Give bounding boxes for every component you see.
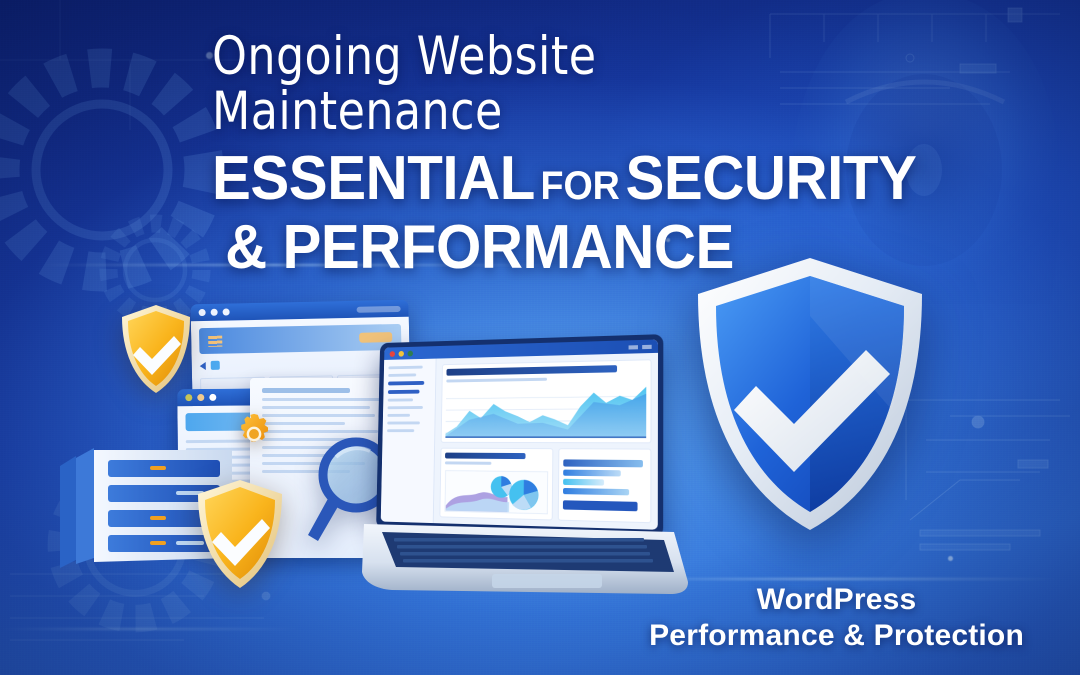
headline-line-2: ESSENTIALFORSECURITY xyxy=(212,147,870,210)
headline-line-3: & PERFORMANCE xyxy=(212,216,870,279)
hamburger-menu-icon[interactable] xyxy=(208,335,222,346)
traffic-light-3[interactable] xyxy=(223,308,230,315)
traffic-light-yellow[interactable] xyxy=(399,350,404,356)
dashboard xyxy=(381,339,658,529)
headline-essential: ESSENTIAL xyxy=(212,144,535,213)
area-chart-card xyxy=(441,359,652,443)
tagline-line-1: WordPress xyxy=(649,583,1024,617)
area-chart xyxy=(445,384,646,438)
traffic-light-3[interactable] xyxy=(209,394,216,401)
titlebar-icon-2[interactable] xyxy=(642,344,652,348)
toolbar-swatch xyxy=(211,361,220,370)
banner-canvas: Ongoing Website Maintenance ESSENTIALFOR… xyxy=(0,0,1080,675)
shield-check-gold-icon-upper xyxy=(120,303,192,395)
traffic-light-1[interactable] xyxy=(185,394,192,401)
titlebar-pill xyxy=(357,305,401,312)
bar-list-card xyxy=(558,448,651,523)
back-arrow-icon[interactable] xyxy=(200,361,206,369)
tagline-line-2: Performance & Protection xyxy=(649,619,1024,653)
traffic-light-green[interactable] xyxy=(407,350,413,356)
traffic-light-1[interactable] xyxy=(199,309,206,316)
dashboard-lower-row xyxy=(439,448,651,524)
laptop-screen xyxy=(376,334,663,537)
laptop-icon xyxy=(360,338,680,588)
shield-check-gold-icon-lower xyxy=(196,478,284,590)
traffic-light-2[interactable] xyxy=(197,394,204,401)
shield-check-icon xyxy=(690,254,930,534)
headline-line-1: Ongoing Website Maintenance xyxy=(212,30,863,139)
headline-for: FOR xyxy=(535,164,626,208)
dashboard-main xyxy=(434,353,658,530)
pie-and-area-chart xyxy=(444,469,548,515)
titlebar-icon-1[interactable] xyxy=(629,345,638,349)
dashboard-sidebar[interactable] xyxy=(381,359,437,524)
tagline-block: WordPress Performance & Protection xyxy=(649,583,1024,653)
laptop-base xyxy=(352,520,692,598)
headline-security: SECURITY xyxy=(625,144,916,213)
pie-chart-card xyxy=(439,448,553,521)
dashboard-body xyxy=(381,353,658,530)
traffic-light-2[interactable] xyxy=(211,309,218,316)
gear-icon xyxy=(232,412,276,456)
headline-block: Ongoing Website Maintenance ESSENTIALFOR… xyxy=(212,30,912,280)
traffic-light-red[interactable] xyxy=(390,351,395,357)
